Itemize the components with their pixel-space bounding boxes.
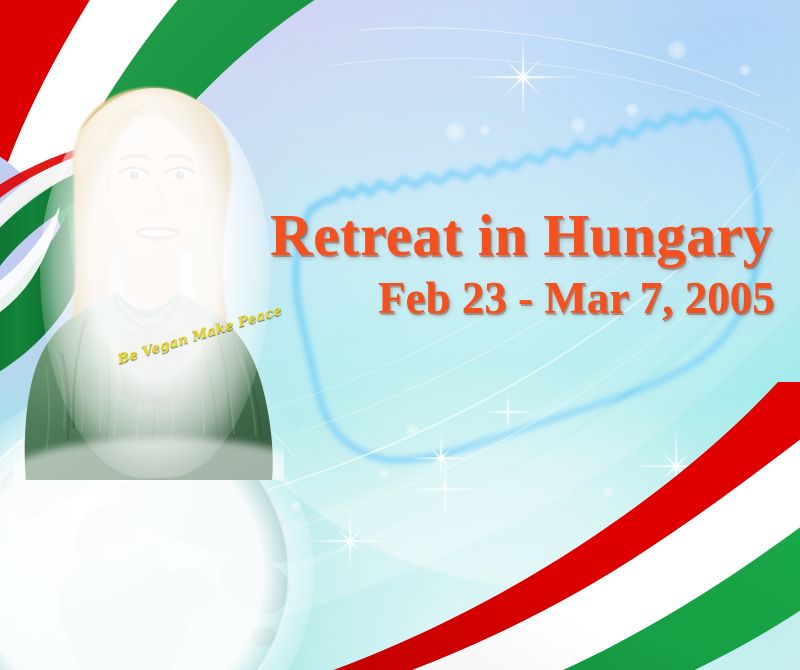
woman-portrait — [14, 60, 284, 480]
poster-title: Retreat in Hungary — [270, 206, 790, 265]
headline-block: Retreat in Hungary Feb 23 - Mar 7, 2005 — [270, 206, 790, 321]
poster-canvas: Be Vegan Make Peace Retreat in Hungary F… — [0, 0, 800, 670]
poster-dates: Feb 23 - Mar 7, 2005 — [378, 276, 790, 321]
portrait-glow — [40, 88, 270, 478]
